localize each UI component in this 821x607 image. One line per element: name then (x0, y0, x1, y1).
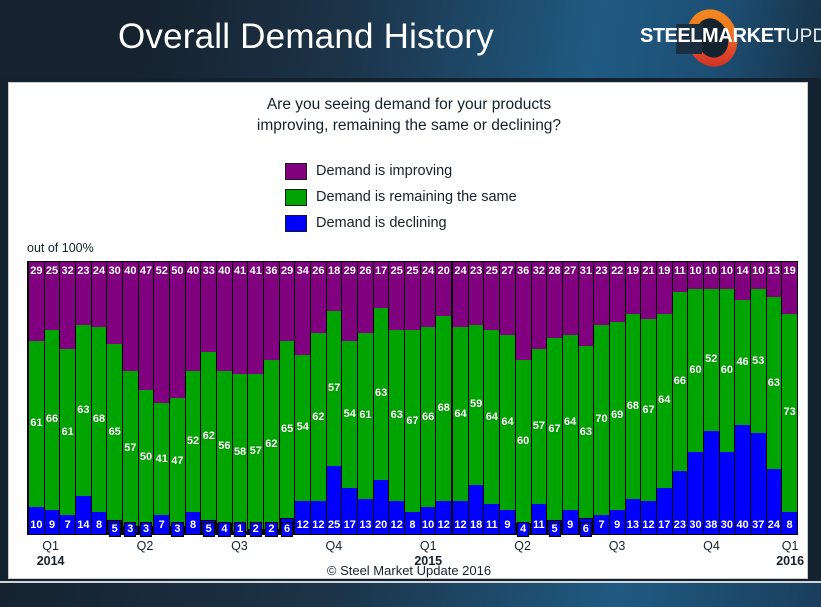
segment-declining: 11 (532, 504, 547, 534)
bar-value-label: 54 (344, 409, 356, 420)
segment-remaining-same: 60 (688, 289, 703, 452)
segment-remaining-same: 62 (264, 360, 279, 529)
bar-value-label: 9 (49, 520, 55, 531)
bar-value-label: 7 (159, 520, 165, 531)
segment-declining: 6 (280, 518, 295, 534)
segment-declining: 12 (311, 501, 326, 534)
bar-value-label: 10 (30, 520, 42, 531)
bar-value-label: 62 (265, 439, 277, 450)
bar-column: 22699 (609, 262, 626, 534)
segment-remaining-same: 53 (751, 289, 766, 433)
bar-column: 106030 (719, 262, 736, 534)
segment-remaining-same: 64 (453, 327, 468, 501)
segment-remaining-same: 61 (29, 341, 44, 507)
bar-value-label: 57 (250, 446, 262, 457)
segment-declining: 25 (327, 466, 342, 534)
bar-value-label: 18 (470, 520, 482, 531)
bar-column: 24688 (91, 262, 108, 534)
bar-column: 41572 (247, 262, 264, 534)
segment-remaining-same: 61 (60, 349, 75, 515)
bar-value-label: 62 (312, 412, 324, 423)
bar-value-label: 41 (156, 454, 168, 465)
bar-value-label: 20 (375, 520, 387, 531)
bar-value-label: 10 (752, 266, 764, 277)
bar-value-label: 29 (281, 266, 293, 277)
bar-column: 36622 (263, 262, 280, 534)
segment-declining: 37 (751, 433, 766, 534)
bar-value-label: 30 (689, 520, 701, 531)
bar-column: 36604 (515, 262, 532, 534)
segment-remaining-same: 69 (610, 322, 625, 510)
segment-remaining-same: 58 (233, 374, 248, 532)
segment-declining: 8 (186, 512, 201, 534)
segment-declining: 20 (374, 480, 389, 534)
segment-improving: 23 (76, 262, 91, 325)
segment-remaining-same: 64 (500, 335, 515, 509)
bar-value-label: 8 (96, 520, 102, 531)
question-line-1: Are you seeing demand for your products (9, 95, 809, 116)
bar-value-label: 11 (674, 266, 686, 277)
segment-improving: 24 (453, 262, 468, 327)
bar-value-label: 29 (344, 266, 356, 277)
chart-legend: Demand is improvingDemand is remaining t… (285, 160, 517, 238)
segment-remaining-same: 66 (45, 330, 60, 510)
bar-column: 105337 (750, 262, 767, 534)
bar-value-label: 33 (203, 266, 215, 277)
segment-remaining-same: 65 (107, 344, 122, 521)
segment-declining: 3 (139, 526, 154, 534)
segment-declining: 11 (484, 504, 499, 534)
bar-value-label: 5 (548, 522, 560, 537)
x-axis-quarter-label: Q2 (514, 539, 531, 553)
x-axis-quarter-label: Q4 (325, 539, 342, 553)
segment-declining: 8 (405, 512, 420, 534)
bar-value-label: 62 (203, 431, 215, 442)
segment-declining: 13 (626, 499, 641, 534)
bar-value-label: 63 (375, 388, 387, 399)
legend-item-2: Demand is declining (285, 212, 517, 234)
bar-value-label: 57 (533, 421, 545, 432)
segment-improving: 29 (280, 262, 295, 341)
segment-declining: 3 (123, 526, 138, 534)
bar-column: 256312 (388, 262, 405, 534)
slide-footer (0, 581, 821, 607)
segment-improving: 32 (60, 262, 75, 349)
segment-declining: 24 (767, 469, 782, 534)
bar-column: 246610 (420, 262, 437, 534)
bar-column: 30655 (106, 262, 123, 534)
x-axis-quarter-label: Q3 (609, 539, 626, 553)
bar-value-label: 12 (438, 520, 450, 531)
bar-column: 116623 (672, 262, 689, 534)
x-axis-quarter-label: Q1 (414, 539, 442, 553)
logo-word-market: MARKET (702, 25, 786, 47)
bar-value-label: 64 (564, 417, 576, 428)
bar-value-label: 10 (721, 266, 733, 277)
segment-remaining-same: 41 (154, 403, 169, 515)
bar-value-label: 25 (46, 266, 58, 277)
bar-value-label: 19 (658, 266, 670, 277)
bar-value-label: 66 (46, 414, 58, 425)
bar-value-label: 20 (438, 266, 450, 277)
bar-value-label: 65 (281, 424, 293, 435)
stacked-bar-plot-area: 2961102566932617236314246883065540573475… (27, 261, 798, 535)
bar-value-label: 13 (627, 520, 639, 531)
bar-value-label: 68 (93, 414, 105, 425)
bar-value-label: 41 (234, 266, 246, 277)
bar-column: 246412 (451, 262, 469, 534)
segment-remaining-same: 57 (248, 374, 263, 529)
bar-column: 256411 (483, 262, 500, 534)
segment-remaining-same: 70 (594, 325, 609, 515)
bar-value-label: 28 (548, 266, 560, 277)
segment-remaining-same: 64 (657, 314, 672, 488)
bar-column: 266212 (310, 262, 327, 534)
bar-value-label: 52 (705, 354, 717, 365)
bar-value-label: 64 (501, 417, 513, 428)
bar-value-label: 57 (124, 443, 136, 454)
chart-question: Are you seeing demand for your products … (9, 95, 809, 137)
bar-value-label: 23 (77, 266, 89, 277)
legend-swatch-icon (285, 163, 307, 180)
segment-declining: 4 (516, 523, 531, 534)
segment-improving: 33 (201, 262, 216, 352)
bar-value-label: 5 (109, 522, 121, 537)
copyright-text: © Steel Market Update 2016 (9, 563, 809, 578)
bar-value-label: 38 (705, 520, 717, 531)
segment-declining: 18 (469, 485, 484, 534)
bar-value-label: 6 (281, 522, 293, 537)
segment-remaining-same: 67 (641, 319, 656, 501)
bar-value-label: 4 (517, 522, 529, 537)
bar-value-label: 12 (642, 520, 654, 531)
segment-improving: 52 (154, 262, 169, 403)
segment-improving: 24 (92, 262, 107, 327)
legend-swatch-icon (285, 215, 307, 232)
bar-column: 32617 (59, 262, 76, 534)
segment-improving: 10 (751, 262, 766, 289)
segment-remaining-same: 73 (782, 314, 797, 513)
bar-value-label: 8 (190, 520, 196, 531)
segment-remaining-same: 57 (532, 349, 547, 504)
bar-value-label: 64 (658, 395, 670, 406)
segment-remaining-same: 56 (217, 371, 232, 523)
x-axis-tick-6: Q3 (609, 539, 626, 553)
segment-remaining-same: 52 (186, 371, 201, 512)
bar-value-label: 30 (721, 520, 733, 531)
legend-label: Demand is declining (316, 215, 447, 231)
bar-value-label: 12 (312, 520, 324, 531)
segment-declining: 7 (594, 515, 609, 534)
bar-value-label: 25 (486, 266, 498, 277)
bar-column: 50473 (169, 262, 186, 534)
bar-value-label: 67 (406, 416, 418, 427)
bar-value-label: 11 (533, 520, 545, 531)
bar-value-label: 57 (328, 383, 340, 394)
bar-column: 27649 (499, 262, 516, 534)
steel-market-update-logo: STEELMARKETUPDATE (640, 8, 815, 70)
bar-value-label: 50 (140, 452, 152, 463)
segment-remaining-same: 62 (311, 333, 326, 502)
legend-label: Demand is improving (316, 163, 452, 179)
segment-improving: 27 (563, 262, 578, 335)
bar-column: 29656 (279, 262, 296, 534)
segment-improving: 36 (516, 262, 531, 360)
bar-value-label: 14 (736, 266, 748, 277)
segment-declining: 5 (107, 520, 122, 534)
bar-value-label: 68 (438, 403, 450, 414)
segment-remaining-same: 63 (579, 346, 594, 517)
bar-value-label: 52 (187, 436, 199, 447)
segment-declining: 4 (217, 523, 232, 534)
bar-value-label: 46 (736, 357, 748, 368)
bar-value-label: 10 (422, 520, 434, 531)
bar-column: 236314 (75, 262, 92, 534)
segment-declining: 30 (688, 452, 703, 534)
bar-column: 47503 (138, 262, 155, 534)
segment-improving: 17 (374, 262, 389, 308)
segment-improving: 10 (720, 262, 735, 289)
bar-value-label: 25 (406, 266, 418, 277)
segment-improving: 50 (170, 262, 185, 398)
x-axis-tick-1: Q2 (137, 539, 154, 553)
bar-value-label: 11 (486, 520, 498, 531)
bar-value-label: 63 (77, 405, 89, 416)
x-axis-quarter-label: Q4 (703, 539, 720, 553)
bar-value-label: 36 (517, 266, 529, 277)
bar-value-label: 19 (627, 266, 639, 277)
bar-value-label: 61 (359, 410, 371, 421)
segment-remaining-same: 64 (563, 335, 578, 509)
bar-column: 144640 (734, 262, 751, 534)
slide-header: Overall Demand History STEELMARKETUPDATE (0, 0, 821, 78)
bar-value-label: 60 (721, 365, 733, 376)
bar-value-label: 9 (504, 520, 510, 531)
segment-improving: 22 (610, 262, 625, 322)
bar-value-label: 69 (611, 410, 623, 421)
bar-value-label: 37 (752, 520, 764, 531)
bar-value-label: 5 (203, 522, 215, 537)
segment-improving: 21 (641, 262, 656, 319)
segment-improving: 24 (421, 262, 436, 327)
bar-value-label: 26 (359, 266, 371, 277)
legend-item-0: Demand is improving (285, 160, 517, 182)
bar-value-label: 1 (234, 522, 246, 537)
segment-remaining-same: 52 (704, 289, 719, 430)
segment-improving: 25 (405, 262, 420, 330)
segment-improving: 40 (217, 262, 232, 371)
segment-improving: 19 (626, 262, 641, 314)
segment-improving: 40 (123, 262, 138, 371)
bar-value-label: 3 (171, 522, 183, 537)
bar-column: 296110 (28, 262, 45, 534)
bar-column: 196417 (656, 262, 673, 534)
bar-column: 105238 (703, 262, 720, 534)
bar-value-label: 27 (564, 266, 576, 277)
segment-declining: 10 (421, 507, 436, 534)
segment-improving: 11 (673, 262, 688, 292)
bar-value-label: 52 (156, 266, 168, 277)
logo-wordmark: STEELMARKETUPDATE (640, 26, 821, 46)
segment-remaining-same: 66 (421, 327, 436, 507)
bar-value-label: 50 (171, 266, 183, 277)
bar-column: 31636 (578, 262, 595, 534)
segment-remaining-same: 50 (139, 390, 154, 526)
bar-value-label: 23 (674, 520, 686, 531)
bar-value-label: 13 (768, 266, 780, 277)
segment-improving: 25 (389, 262, 404, 330)
segment-improving: 27 (500, 262, 515, 335)
segment-improving: 23 (469, 262, 484, 325)
bar-value-label: 66 (422, 412, 434, 423)
bar-value-label: 4 (218, 522, 230, 537)
bar-value-label: 40 (218, 266, 230, 277)
bar-value-label: 18 (328, 266, 340, 277)
bar-value-label: 47 (171, 456, 183, 467)
bar-value-label: 24 (93, 266, 105, 277)
bar-column: 40528 (185, 262, 202, 534)
segment-improving: 26 (358, 262, 373, 333)
bar-value-label: 24 (422, 266, 434, 277)
segment-declining: 8 (782, 512, 797, 534)
bar-value-label: 36 (265, 266, 277, 277)
legend-item-1: Demand is remaining the same (285, 186, 517, 208)
segment-improving: 18 (327, 262, 342, 311)
segment-improving: 29 (29, 262, 44, 341)
bar-value-label: 9 (614, 520, 620, 531)
bar-value-label: 23 (470, 266, 482, 277)
bar-value-label: 40 (124, 266, 136, 277)
bar-value-label: 40 (736, 520, 748, 531)
segment-improving: 28 (547, 262, 562, 338)
bar-value-label: 67 (642, 405, 654, 416)
bar-value-label: 34 (297, 266, 309, 277)
bar-value-label: 12 (454, 520, 466, 531)
slide-root: Overall Demand History STEELMARKETUPDATE… (0, 0, 821, 607)
segment-declining: 8 (92, 512, 107, 534)
bar-value-label: 60 (689, 365, 701, 376)
segment-improving: 41 (248, 262, 263, 374)
segment-declining: 12 (389, 501, 404, 534)
bar-value-label: 12 (297, 520, 309, 531)
segment-declining: 14 (76, 496, 91, 534)
segment-improving: 10 (704, 262, 719, 289)
bar-column: 345412 (294, 262, 311, 534)
bar-value-label: 63 (580, 427, 592, 438)
segment-remaining-same: 63 (767, 297, 782, 468)
segment-improving: 13 (767, 262, 782, 297)
segment-improving: 10 (688, 262, 703, 289)
segment-declining: 12 (436, 501, 451, 534)
bar-column: 23707 (593, 262, 610, 534)
segment-declining: 9 (610, 510, 625, 534)
bar-value-label: 19 (783, 266, 795, 277)
bar-column: 196813 (625, 262, 642, 534)
page-title: Overall Demand History (118, 17, 494, 57)
bar-value-label: 29 (30, 266, 42, 277)
bar-value-label: 8 (409, 520, 415, 531)
segment-declining: 12 (453, 501, 468, 534)
segment-remaining-same: 68 (626, 314, 641, 499)
bar-value-label: 61 (62, 427, 74, 438)
bar-value-label: 32 (62, 266, 74, 277)
bar-value-label: 3 (124, 522, 136, 537)
logo-word-update: UPDATE (786, 26, 821, 47)
bar-value-label: 12 (391, 520, 403, 531)
bar-column: 33625 (200, 262, 217, 534)
bar-value-label: 9 (567, 520, 573, 531)
x-axis-quarter-label: Q1 (37, 539, 65, 553)
segment-improving: 26 (311, 262, 326, 333)
segment-declining: 7 (60, 515, 75, 534)
segment-declining: 5 (547, 520, 562, 534)
segment-improving: 30 (107, 262, 122, 344)
bar-column: 27649 (562, 262, 579, 534)
bar-value-label: 17 (344, 520, 356, 531)
segment-declining: 6 (579, 518, 594, 534)
segment-improving: 20 (436, 262, 451, 316)
x-axis-tick-7: Q4 (703, 539, 720, 553)
bar-column: 216712 (640, 262, 657, 534)
bar-value-label: 10 (689, 266, 701, 277)
bar-value-label: 10 (705, 266, 717, 277)
bar-value-label: 26 (312, 266, 324, 277)
bar-value-label: 64 (454, 409, 466, 420)
bar-column: 28675 (546, 262, 563, 534)
y-axis-note: out of 100% (27, 241, 94, 255)
question-line-2: improving, remaining the same or declini… (9, 116, 809, 137)
logo-word-steel: STEEL (640, 25, 702, 47)
segment-declining: 23 (673, 471, 688, 534)
segment-remaining-same: 66 (673, 292, 688, 472)
bar-value-label: 24 (454, 266, 466, 277)
bar-column: 206812 (435, 262, 452, 534)
segment-improving: 36 (264, 262, 279, 360)
segment-declining: 9 (500, 510, 515, 534)
bar-column: 235918 (468, 262, 485, 534)
segment-remaining-same: 62 (201, 352, 216, 521)
segment-declining: 7 (154, 515, 169, 534)
segment-remaining-same: 54 (295, 355, 310, 502)
bar-column: 266113 (357, 262, 374, 534)
bar-value-label: 14 (77, 520, 89, 531)
segment-declining: 17 (657, 488, 672, 534)
segment-remaining-same: 68 (92, 327, 107, 512)
bar-column: 52417 (153, 262, 170, 534)
bar-value-label: 7 (598, 520, 604, 531)
x-axis-tick-3: Q4 (325, 539, 342, 553)
bar-value-label: 30 (109, 266, 121, 277)
bar-value-label: 47 (140, 266, 152, 277)
bar-column: 295417 (341, 262, 358, 534)
bar-value-label: 25 (391, 266, 403, 277)
bar-value-label: 6 (580, 522, 592, 537)
segment-declining: 12 (295, 501, 310, 534)
segment-declining: 12 (641, 501, 656, 534)
x-axis-quarter-label: Q2 (137, 539, 154, 553)
bar-value-label: 68 (627, 401, 639, 412)
segment-declining: 40 (735, 425, 750, 534)
x-axis-quarter-label: Q3 (231, 539, 248, 553)
segment-remaining-same: 63 (76, 325, 91, 496)
segment-improving: 25 (45, 262, 60, 330)
segment-declining: 30 (720, 452, 735, 534)
segment-remaining-same: 59 (469, 325, 484, 485)
legend-label: Demand is remaining the same (316, 189, 517, 205)
segment-improving: 40 (186, 262, 201, 371)
bar-value-label: 17 (658, 520, 670, 531)
segment-improving: 31 (579, 262, 594, 346)
